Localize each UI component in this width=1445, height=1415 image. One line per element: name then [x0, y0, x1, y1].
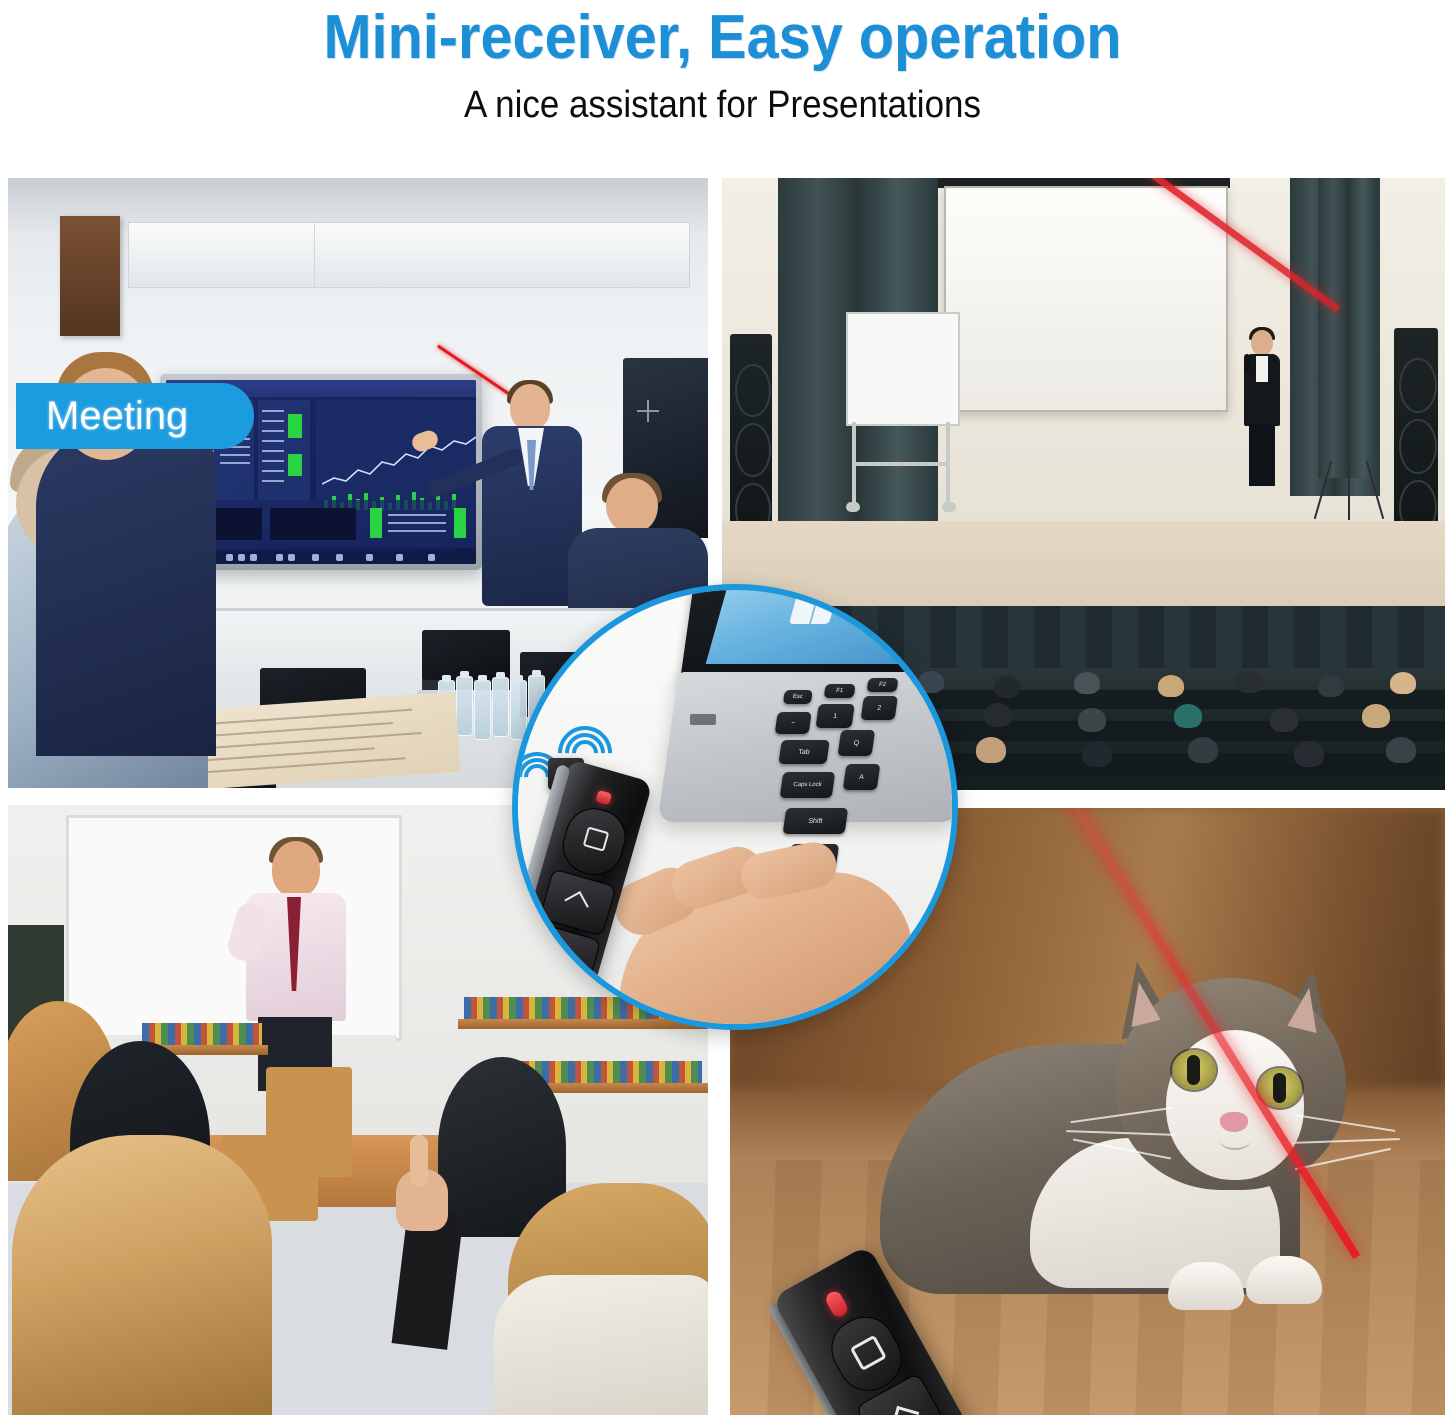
product-closeup-inset: Esc F1 F2 ~ 1 2 Tab Q Caps Lock A Shift …: [512, 584, 958, 1030]
raised-hand: [388, 1135, 460, 1345]
projector-screen: [944, 186, 1228, 412]
laptop-screen: [706, 584, 958, 664]
wall-wood-box: [60, 216, 120, 336]
key-a[interactable]: A: [843, 764, 881, 790]
student-foreground-left: [12, 1135, 272, 1415]
page-subtitle: A nice assistant for Presentations: [58, 84, 1387, 127]
key-q[interactable]: Q: [838, 730, 876, 756]
key-caps-lock[interactable]: Caps Lock: [780, 772, 836, 798]
mobile-whiteboard: [846, 312, 960, 426]
laptop-keyboard: Esc F1 F2 ~ 1 2 Tab Q Caps Lock A Shift …: [759, 690, 958, 872]
key-2[interactable]: 2: [861, 696, 898, 720]
page-title: Mini-receiver, Easy operation: [51, 2, 1395, 73]
key-f1[interactable]: F1: [824, 684, 856, 698]
key-1[interactable]: 1: [815, 704, 854, 728]
student-foreground-right-shoulder: [494, 1275, 708, 1415]
stage-curtain: [1318, 178, 1378, 478]
speaker-person: [1240, 330, 1284, 486]
header: Mini-receiver, Easy operation A nice ass…: [0, 0, 1445, 162]
key-tab[interactable]: Tab: [778, 740, 829, 764]
key-esc[interactable]: Esc: [783, 690, 813, 704]
speaker-tripod: [1322, 460, 1376, 522]
key-tilde[interactable]: ~: [775, 712, 812, 734]
disc-icon: [849, 584, 916, 632]
wall-cabinet: [128, 222, 690, 288]
whiteboard-stand: [846, 422, 956, 514]
cat-nose: [1220, 1112, 1248, 1132]
badge-meeting: Meeting: [16, 383, 254, 449]
foreground-attendee: [36, 426, 216, 756]
finder-icon: [789, 584, 840, 624]
product-feature-image: Mini-receiver, Easy operation A nice ass…: [0, 0, 1445, 1415]
cat-paw: [1246, 1256, 1322, 1304]
usb-port: [690, 714, 716, 725]
key-f2[interactable]: F2: [867, 678, 899, 692]
key-shift[interactable]: Shift: [783, 808, 849, 834]
